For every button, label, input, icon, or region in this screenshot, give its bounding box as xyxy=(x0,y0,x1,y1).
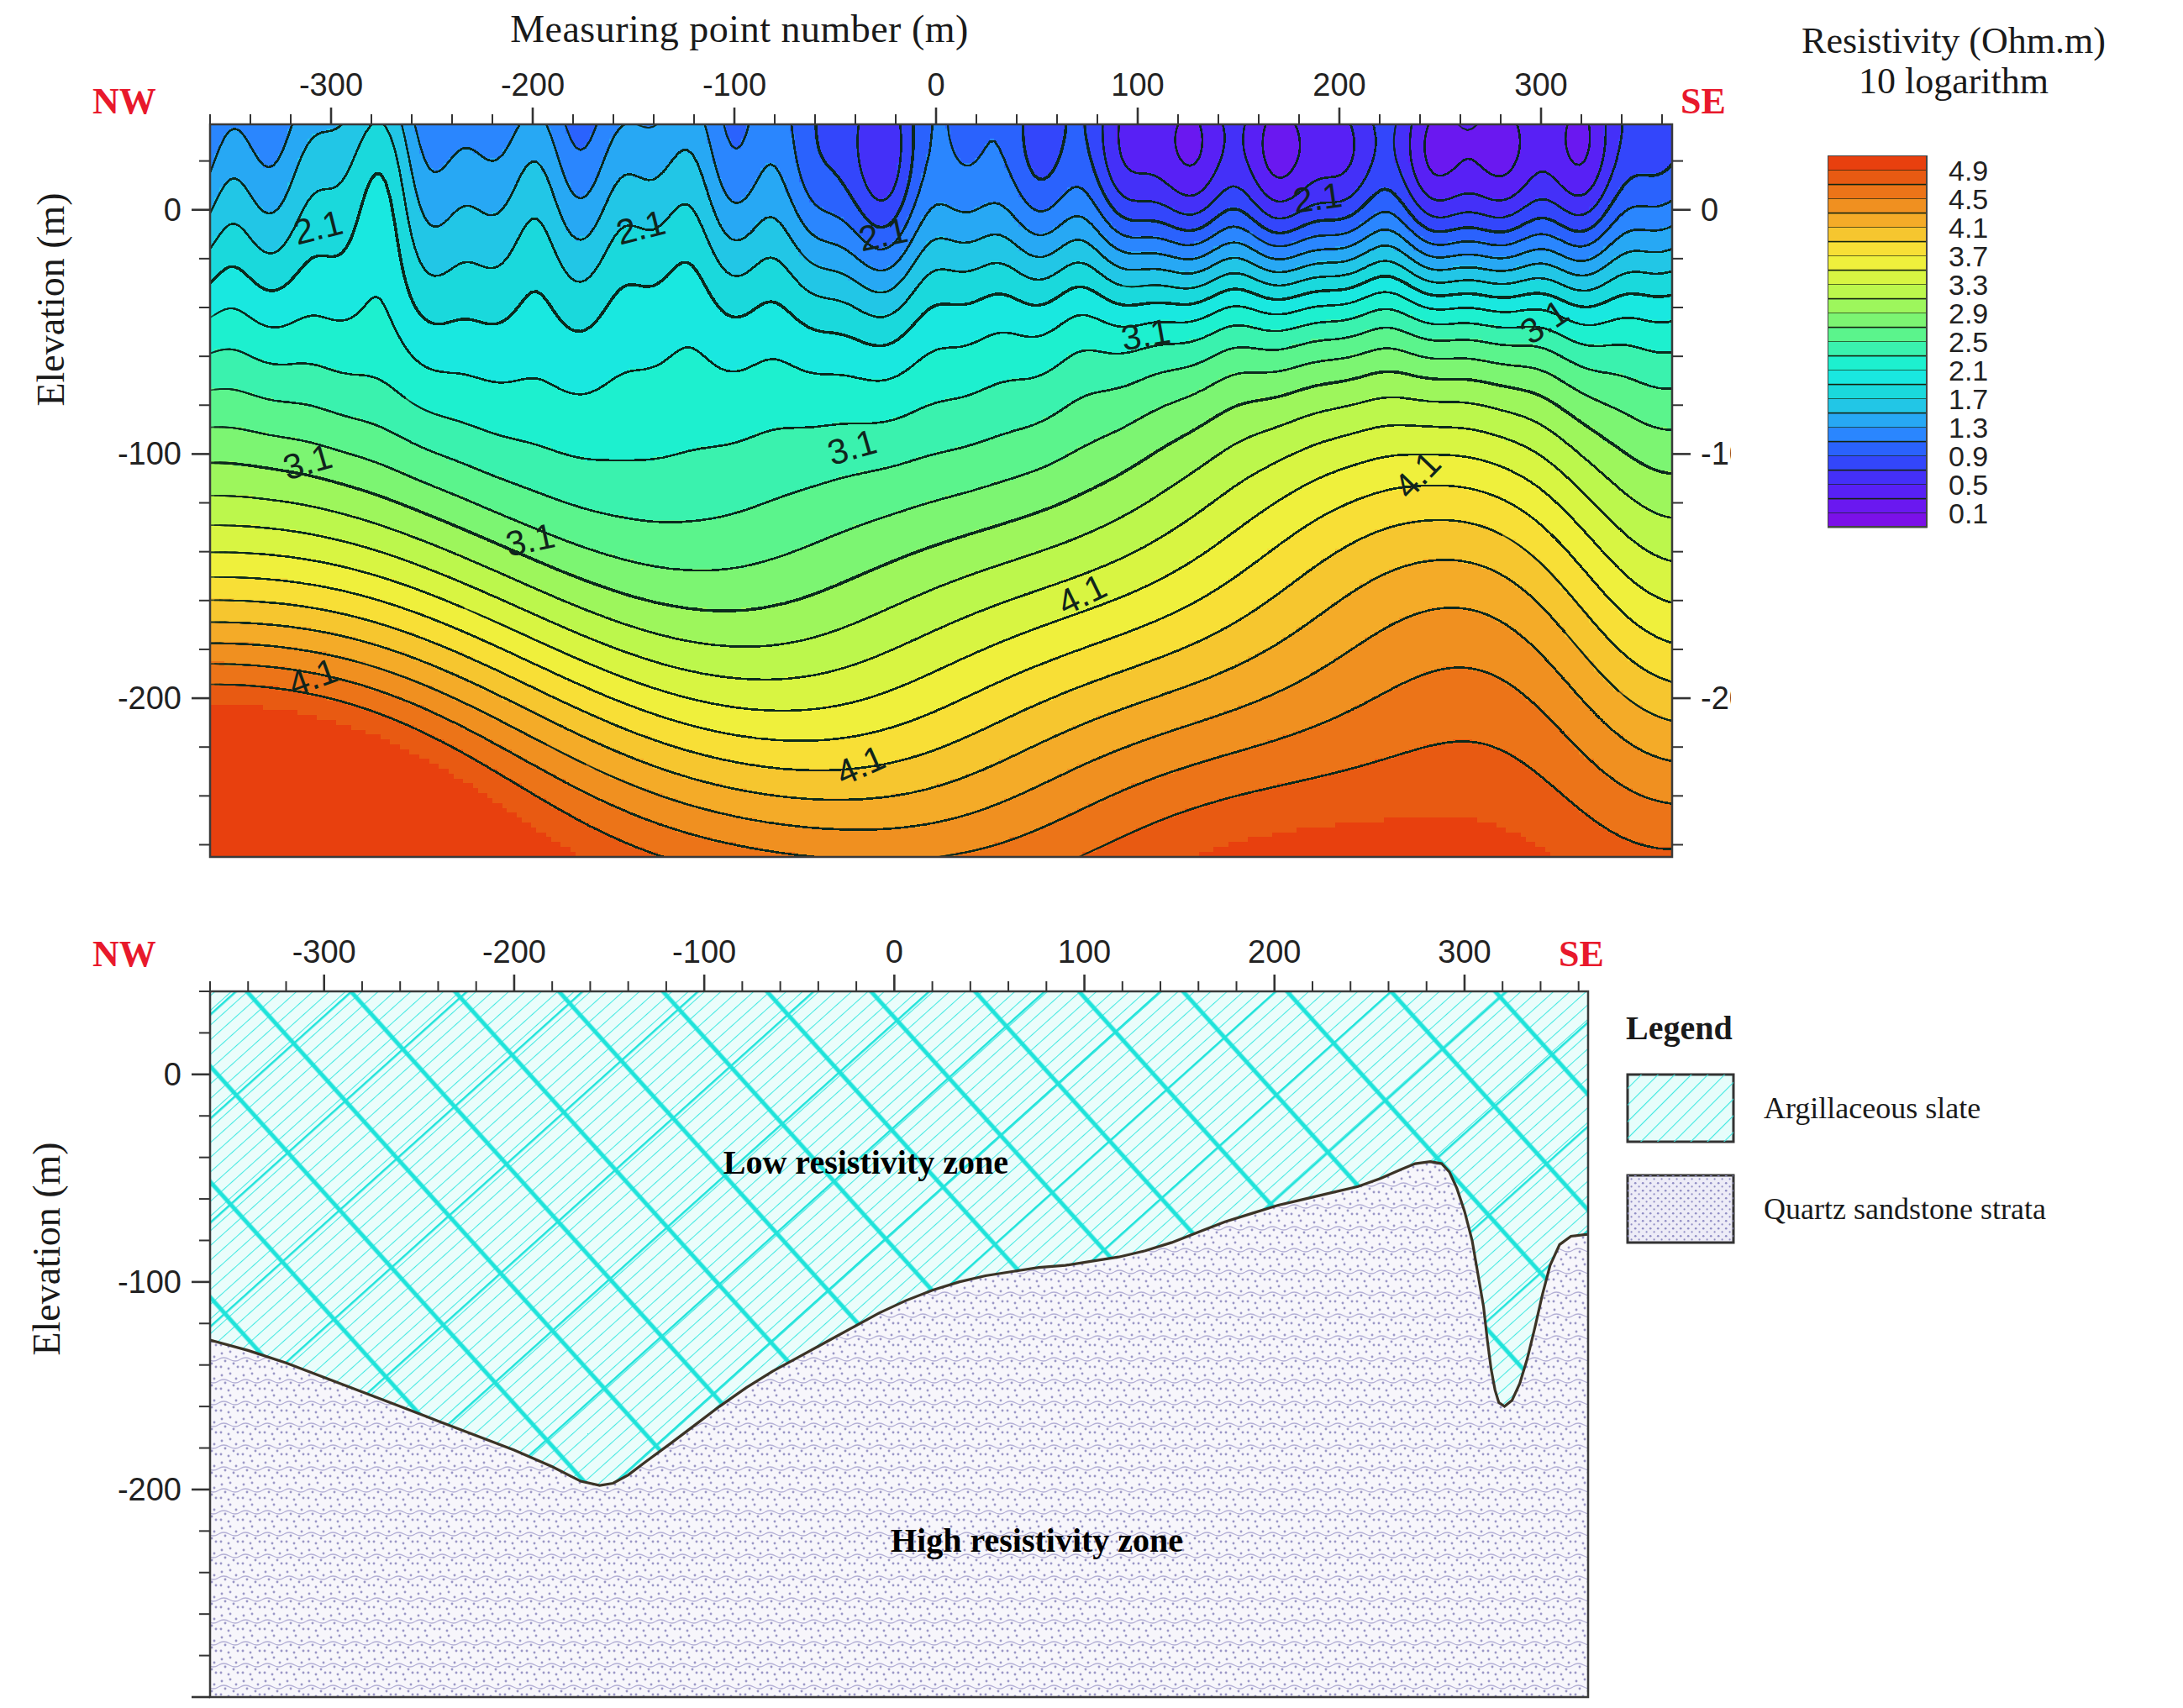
y-axis-title-bottom: Elevation (m) xyxy=(24,1090,69,1409)
direction-label-se-top: SE xyxy=(1681,80,1726,123)
x-tick-label-bottom: 100 xyxy=(1058,934,1111,970)
colorbar-title-line2: 10 logarithm xyxy=(1731,61,2176,102)
colorbar-tick-label: 3.3 xyxy=(1949,269,1988,301)
colorbar-title: Resistivity (Ohm.m) 10 logarithm xyxy=(1731,21,2176,101)
colorbar-tick-label: 4.9 xyxy=(1949,155,1988,187)
colorbar-tick-label: 2.9 xyxy=(1949,297,1988,329)
direction-label-nw-top: NW xyxy=(92,80,156,123)
high-resistivity-zone-label: High resistivity zone xyxy=(891,1521,1183,1559)
low-resistivity-zone-label: Low resistivity zone xyxy=(723,1143,1008,1181)
geology-panel: NW SE Elevation (m) -300-200-10001002003… xyxy=(0,891,1647,1708)
colorbar-tick-label: 0.1 xyxy=(1949,497,1988,529)
colorbar-tick-label: 0.9 xyxy=(1949,440,1988,472)
x-tick-label-bottom: 200 xyxy=(1248,934,1301,970)
legend-item-label: Argillaceous slate xyxy=(1764,1090,1980,1126)
direction-label-se-bottom: SE xyxy=(1559,933,1604,975)
colorbar-tick-label: 1.7 xyxy=(1949,383,1988,415)
y-tick-label-top-left: -100 xyxy=(118,436,181,471)
svg-text:3.1: 3.1 xyxy=(1118,311,1174,358)
y-axis-title-top: Elevation (m) xyxy=(29,140,73,460)
y-tick-label-bottom: 0 xyxy=(164,1057,181,1092)
legend-swatch-sandstone xyxy=(1626,1174,1735,1244)
legend-item-label: Quartz sandstone strata xyxy=(1764,1191,2046,1227)
svg-text:2.1: 2.1 xyxy=(1291,175,1344,221)
x-tick-label-top: -300 xyxy=(299,67,363,102)
x-tick-label-top: 300 xyxy=(1514,67,1567,102)
resistivity-contour-map: -300-200-100010020030000-100-100-200-200… xyxy=(0,0,1731,886)
colorbar-tick-label: 3.7 xyxy=(1949,240,1988,272)
y-tick-label-top-left: 0 xyxy=(164,192,181,228)
colorbar-tick-label: 4.5 xyxy=(1949,183,1988,215)
x-tick-label-top: -100 xyxy=(702,67,766,102)
x-tick-label-bottom: -100 xyxy=(672,934,736,970)
legend-swatch-slate xyxy=(1626,1073,1735,1143)
direction-label-nw-bottom: NW xyxy=(92,933,156,975)
y-tick-label-top-right: -200 xyxy=(1701,681,1731,716)
colorbar-tick-label: 0.5 xyxy=(1949,469,1988,501)
x-tick-label-bottom: 300 xyxy=(1438,934,1491,970)
x-tick-label-bottom: -300 xyxy=(292,934,356,970)
x-tick-label-bottom: 0 xyxy=(886,934,903,970)
resistivity-panel: NW SE Elevation (m) -300-200-10001002003… xyxy=(0,0,1731,886)
x-tick-label-top: 100 xyxy=(1111,67,1164,102)
colorbar-title-line1: Resistivity (Ohm.m) xyxy=(1731,21,2176,61)
x-tick-label-top: -200 xyxy=(501,67,565,102)
legend-title: Legend xyxy=(1626,1008,2180,1048)
legend: Legend Argillaceous slate Quartz sandsto… xyxy=(1626,1008,2180,1244)
colorbar: 4.94.54.13.73.32.92.52.11.71.30.90.50.1 xyxy=(1828,155,2164,550)
x-tick-label-bottom: -200 xyxy=(482,934,546,970)
legend-item: Argillaceous slate xyxy=(1626,1073,2180,1143)
y-tick-label-bottom: -100 xyxy=(118,1264,181,1300)
colorbar-tick-label: 2.1 xyxy=(1949,355,1988,386)
contour-label: 3.13.1 xyxy=(1118,311,1174,358)
x-tick-label-top: 200 xyxy=(1312,67,1365,102)
colorbar-tick-label: 1.3 xyxy=(1949,412,1988,444)
colorbar-tick-label: 2.5 xyxy=(1949,326,1988,358)
geology-cross-section: -300-200-10001002003000-100-200Low resis… xyxy=(0,891,1647,1708)
y-tick-label-top-left: -200 xyxy=(118,681,181,716)
y-tick-label-top-right: 0 xyxy=(1701,192,1718,228)
x-tick-label-top: 0 xyxy=(927,67,944,102)
colorbar-tick-label: 4.1 xyxy=(1949,212,1988,244)
y-tick-label-bottom: -200 xyxy=(118,1472,181,1507)
contour-label: 2.12.1 xyxy=(1291,175,1344,221)
legend-item: Quartz sandstone strata xyxy=(1626,1174,2180,1244)
y-tick-label-top-right: -100 xyxy=(1701,436,1731,471)
